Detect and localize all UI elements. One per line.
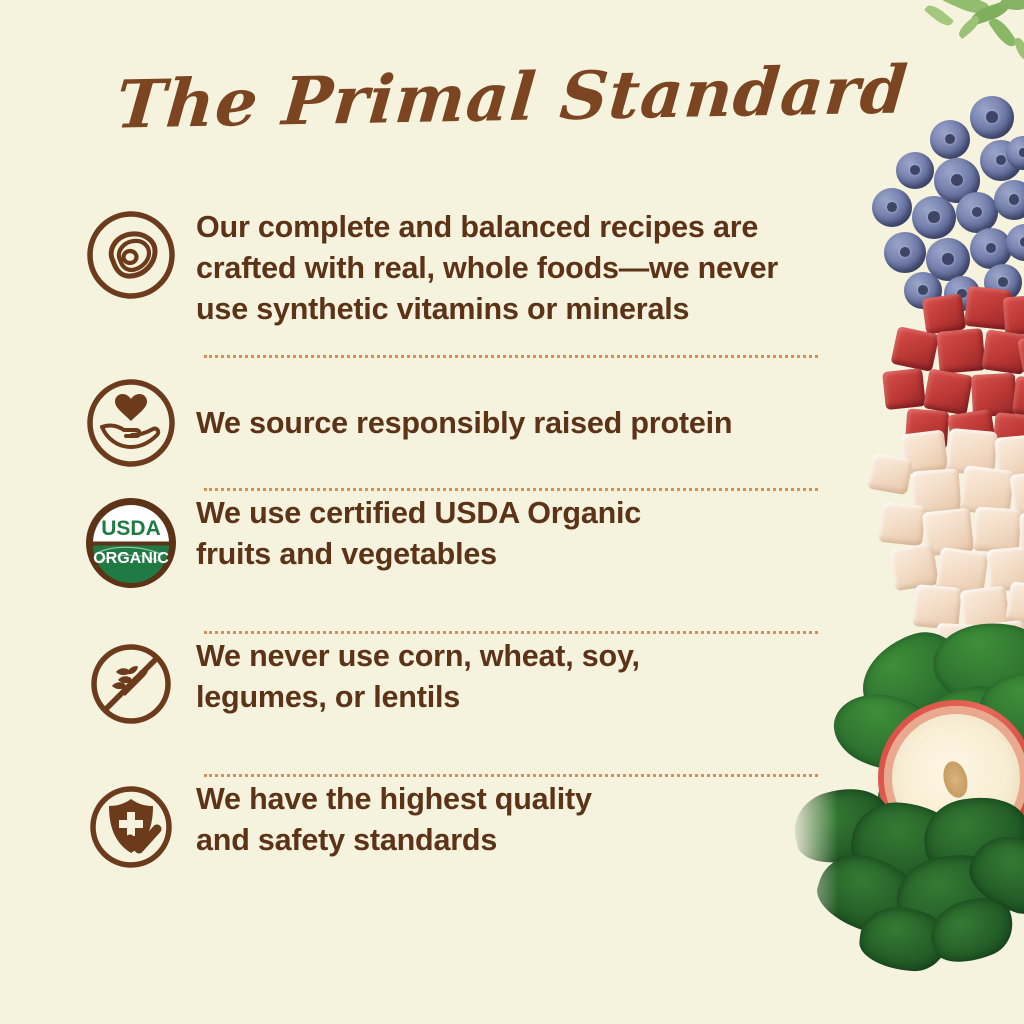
standard-row-recipes: Our complete and balanced recipes are cr… (66, 205, 826, 355)
usda-seal-bottom-text: ORGANIC (93, 550, 169, 567)
standard-text-protein: We source responsibly raised protein (196, 403, 826, 444)
usda-seal-top-text: USDA (101, 517, 161, 540)
steak-cut-icon (66, 205, 196, 301)
page-title: The Primal Standard (0, 48, 1024, 146)
apple-core (940, 758, 971, 800)
standard-text-recipes: Our complete and balanced recipes are cr… (196, 205, 826, 330)
standard-text-quality: We have the highest quality and safety s… (196, 777, 826, 861)
shield-check-quality-icon (66, 777, 196, 873)
standard-row-organic: USDA ORGANIC We use certified USDA Organ… (66, 491, 826, 631)
standard-row-no-grains: We never use corn, wheat, soy, legumes, … (66, 634, 826, 774)
standard-text-no-grains: We never use corn, wheat, soy, legumes, … (196, 634, 826, 718)
standard-row-protein: We source responsibly raised protein (66, 358, 826, 488)
hand-holding-heart-icon (66, 377, 196, 469)
standard-row-quality: We have the highest quality and safety s… (66, 777, 826, 907)
standard-text-organic: We use certified USDA Organic fruits and… (196, 491, 826, 575)
primal-standard-graphic: The Primal Standard Our complete and bal… (0, 0, 1024, 1024)
usda-organic-seal-icon: USDA ORGANIC (66, 491, 196, 591)
standards-list: Our complete and balanced recipes are cr… (66, 205, 826, 907)
no-grains-icon (66, 634, 196, 730)
